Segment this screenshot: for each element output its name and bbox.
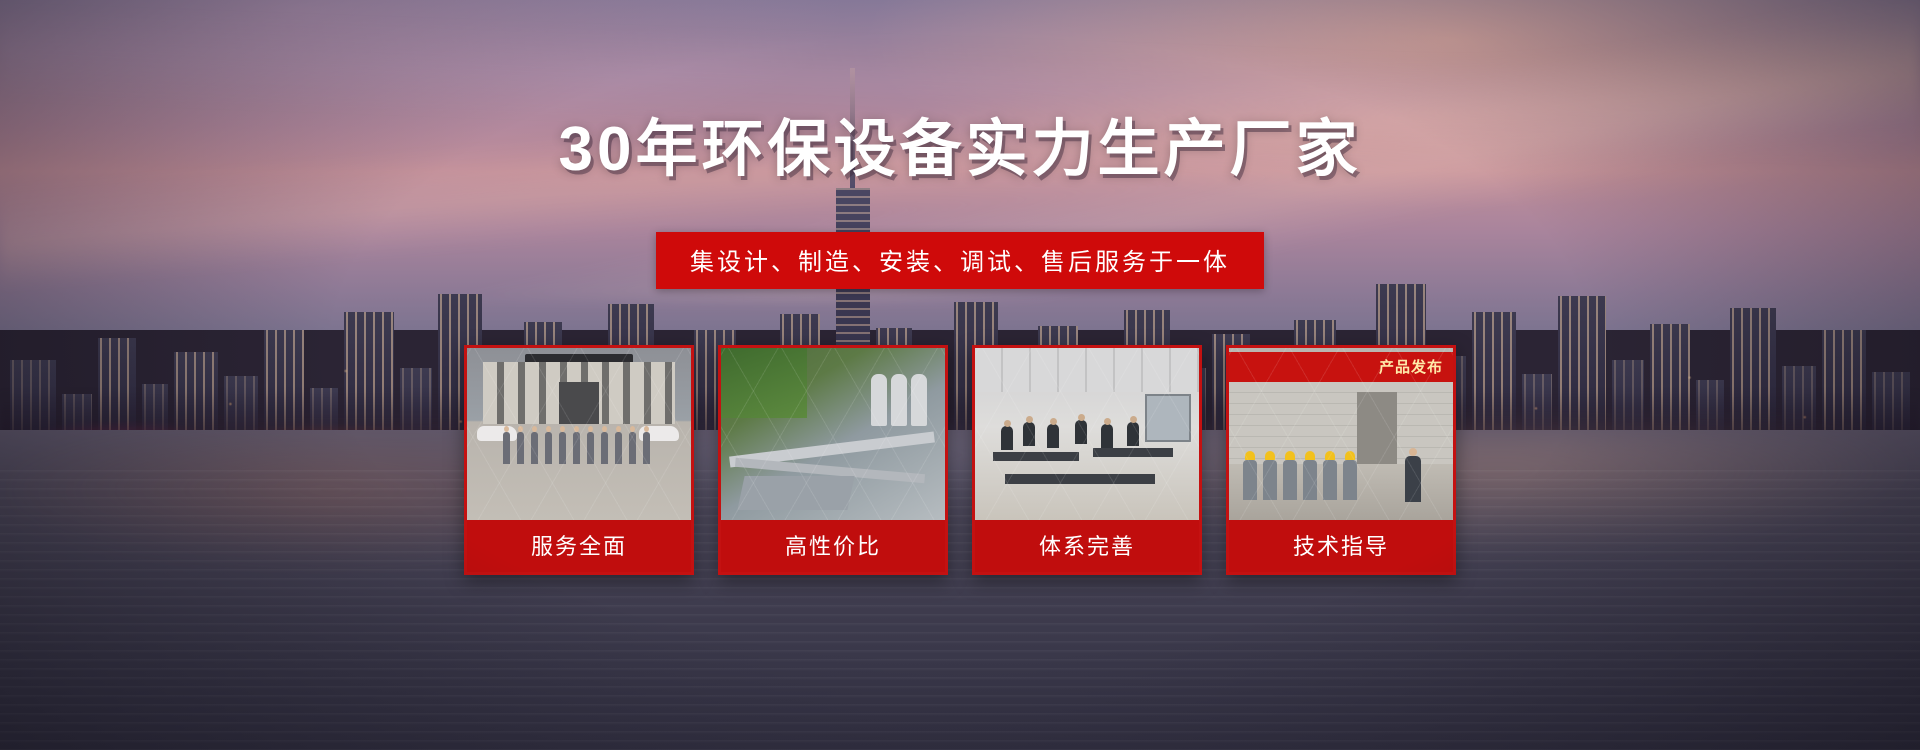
watermark-overlay (467, 348, 691, 520)
card-caption: 高性价比 (721, 520, 945, 572)
feature-card[interactable]: 服务全面 (464, 345, 694, 575)
office-interior-workstations-photo (975, 348, 1199, 520)
page-title: 30年环保设备实力生产厂家 (0, 98, 1920, 188)
card-caption: 体系完善 (975, 520, 1199, 572)
watermark-overlay (1229, 348, 1453, 520)
card-caption: 服务全面 (467, 520, 691, 572)
hero-banner: 30年环保设备实力生产厂家 集设计、制造、安装、调试、售后服务于一体 服务全面 (0, 0, 1920, 750)
watermark-overlay (721, 348, 945, 520)
feature-card[interactable]: 体系完善 (972, 345, 1202, 575)
company-office-building-staff-photo (467, 348, 691, 520)
feature-card[interactable]: 高性价比 (718, 345, 948, 575)
feature-card-list: 服务全面 高性价比 (0, 345, 1920, 575)
factory-workshop-workers-photo: 产品发布 (1229, 348, 1453, 520)
watermark-overlay (975, 348, 1199, 520)
feature-card[interactable]: 产品发布 技术指导 (1226, 345, 1456, 575)
subtitle-bar: 集设计、制造、安装、调试、售后服务于一体 (656, 232, 1264, 289)
subtitle-bar-wrap: 集设计、制造、安装、调试、售后服务于一体 (0, 232, 1920, 289)
card-caption: 技术指导 (1229, 520, 1453, 572)
aerial-industrial-plant-photo (721, 348, 945, 520)
